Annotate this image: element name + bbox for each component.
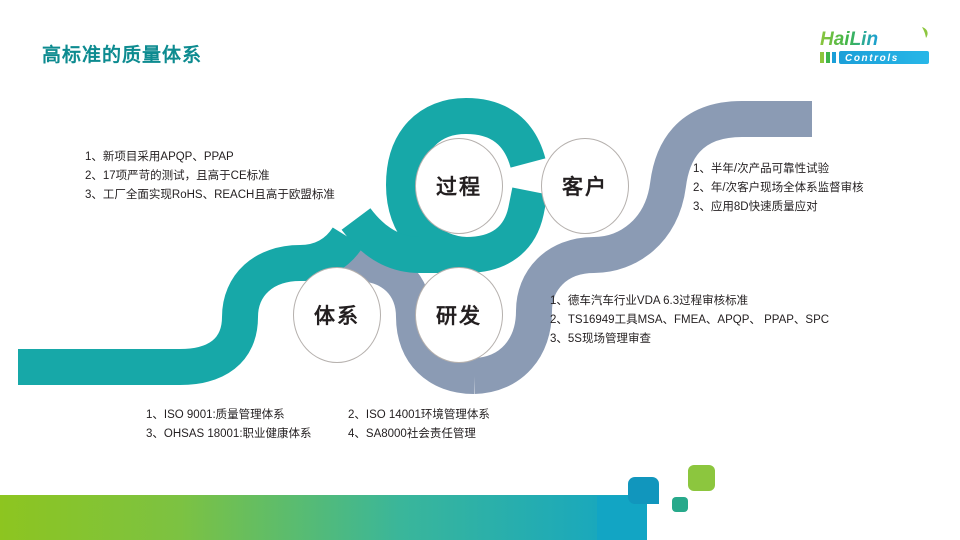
text-block-top-right: 1、半年/次产品可靠性试验 2、年/次客户现场全体系监督审核 3、应用8D快速质… <box>693 160 864 217</box>
node-rd-label: 研发 <box>436 300 482 330</box>
logo-bar-1 <box>820 52 824 63</box>
node-customer[interactable]: 客户 <box>541 138 629 234</box>
bottom-left-line-3: 3、OHSAS 18001:职业健康体系 <box>146 425 314 444</box>
bottom-left-row-1: 1、ISO 9001:质量管理体系 2、ISO 14001环境管理体系 <box>146 406 490 425</box>
logo-wordmark: HaiLin <box>820 29 878 50</box>
node-system[interactable]: 体系 <box>293 267 381 363</box>
logo-bar-2 <box>826 52 830 63</box>
node-system-label: 体系 <box>314 300 360 330</box>
bottom-left-line-4: 4、SA8000社会责任管理 <box>348 425 476 444</box>
node-process[interactable]: 过程 <box>415 138 503 234</box>
text-block-middle-right: 1、德车汽车行业VDA 6.3过程审核标准 2、TS16949工具MSA、FME… <box>550 292 829 349</box>
logo-bar-3 <box>832 52 836 63</box>
slide: 高标准的质量体系 HaiLin Controls <box>0 0 960 540</box>
middle-right-line-1: 1、德车汽车行业VDA 6.3过程审核标准 <box>550 292 829 311</box>
deco-square-green <box>688 465 715 491</box>
top-left-line-1: 1、新项目采用APQP、PPAP <box>85 148 335 167</box>
bottom-gradient-bar <box>0 495 645 540</box>
process-diagram: 过程 客户 体系 研发 <box>0 95 960 395</box>
top-left-line-3: 3、工厂全面实现RoHS、REACH且高于欧盟标准 <box>85 186 335 205</box>
bottom-left-row-2: 3、OHSAS 18001:职业健康体系 4、SA8000社会责任管理 <box>146 425 490 444</box>
text-block-top-left: 1、新项目采用APQP、PPAP 2、17项严苛的测试，且高于CE标准 3、工厂… <box>85 148 335 205</box>
node-customer-label: 客户 <box>562 171 608 201</box>
hailin-controls-logo: HaiLin Controls <box>818 26 940 70</box>
top-left-line-2: 2、17项严苛的测试，且高于CE标准 <box>85 167 335 186</box>
top-right-line-2: 2、年/次客户现场全体系监督审核 <box>693 179 864 198</box>
deco-square-teal <box>672 497 688 512</box>
middle-right-line-3: 3、5S现场管理审查 <box>550 330 829 349</box>
ribbon-teal-join <box>300 237 348 263</box>
middle-right-line-2: 2、TS16949工具MSA、FMEA、APQP、 PPAP、SPC <box>550 311 829 330</box>
leaf-icon <box>922 27 928 38</box>
deco-square-cyan-small <box>628 477 659 504</box>
node-process-label: 过程 <box>436 171 482 201</box>
bottom-left-line-2: 2、ISO 14001环境管理体系 <box>348 406 490 425</box>
text-block-bottom-left: 1、ISO 9001:质量管理体系 2、ISO 14001环境管理体系 3、OH… <box>146 406 490 444</box>
top-right-line-3: 3、应用8D快速质量应对 <box>693 198 864 217</box>
node-rd[interactable]: 研发 <box>415 267 503 363</box>
page-title: 高标准的质量体系 <box>42 40 202 67</box>
ribbon-teal-lower <box>18 263 300 367</box>
bottom-left-line-1: 1、ISO 9001:质量管理体系 <box>146 406 314 425</box>
logo-subtext: Controls <box>845 53 899 64</box>
top-right-line-1: 1、半年/次产品可靠性试验 <box>693 160 864 179</box>
